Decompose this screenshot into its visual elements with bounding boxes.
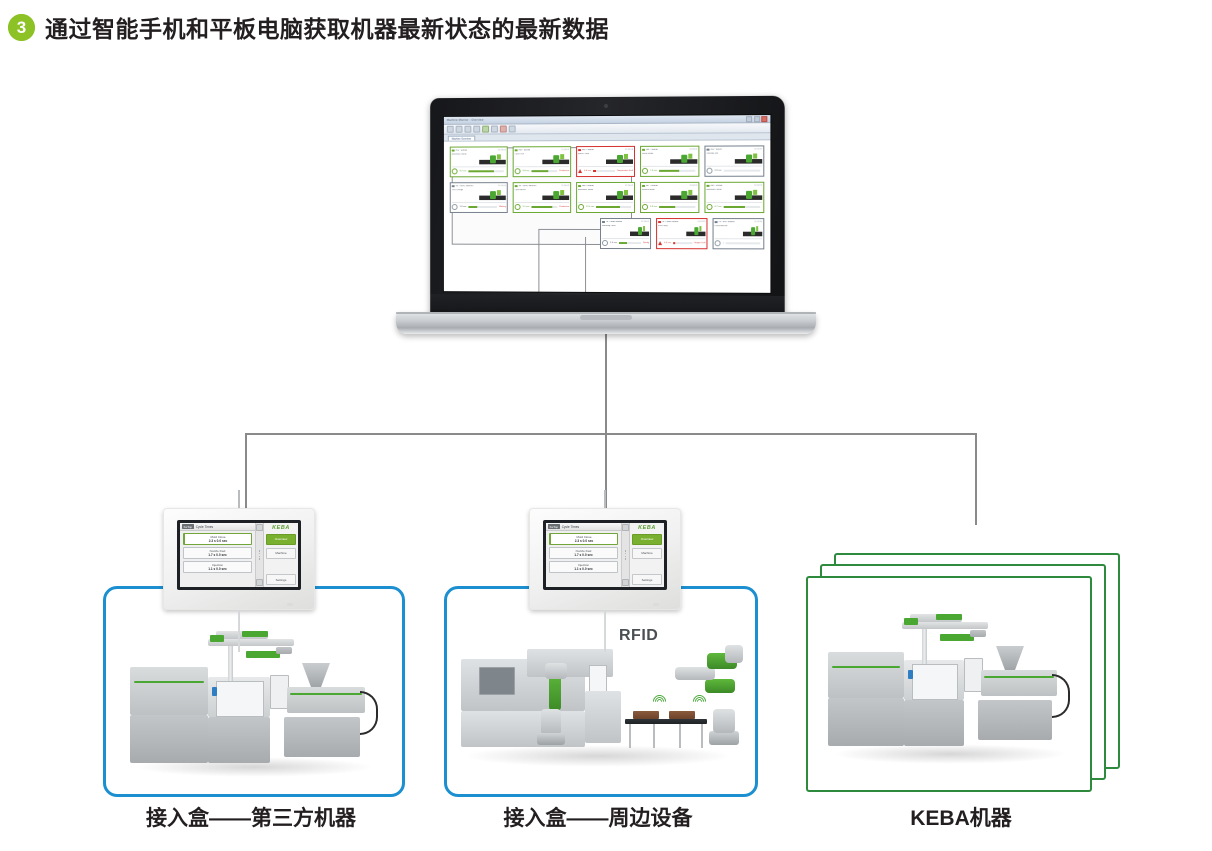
rfid-label: RFID bbox=[619, 627, 658, 645]
hmi-row-value: 2.3 s 0.0 sec bbox=[209, 539, 228, 543]
stack-sheet-front bbox=[806, 576, 1092, 792]
card-footer: 6.7 sec bbox=[706, 202, 762, 211]
group-box-peripheral: RFID bbox=[444, 586, 758, 797]
card-info: Standby Idle bbox=[706, 152, 733, 166]
machine-status-card[interactable]: IM4 - 320ton11:24:01Setup Mode7.4 sec bbox=[640, 146, 699, 177]
card-body: Disconnected bbox=[715, 224, 763, 238]
card-machine-thumbnail bbox=[542, 152, 569, 166]
refresh-icon[interactable] bbox=[482, 126, 489, 133]
hmi-button-settings-center[interactable]: Settings bbox=[632, 574, 662, 585]
chevron-down-icon[interactable] bbox=[256, 579, 263, 586]
hmi-row-1-center[interactable]: Nozzle Fwd 1.7 s 0.0 sec bbox=[549, 547, 618, 559]
hmi-sidebar-left: KEBA Overview Machine Settings bbox=[263, 523, 298, 587]
card-footer: 3.9 sec bbox=[642, 202, 697, 211]
hmi-support-arm-left bbox=[238, 610, 241, 652]
card-timestamp: 11:23:47 bbox=[754, 148, 762, 150]
card-machine-name: IM4 - 320ton bbox=[646, 149, 659, 151]
card-footer: 0.0 secGripper fault bbox=[658, 238, 705, 247]
dashboard-canvas: IM1 - 160ton11:24:02Automatic Mode8.2 se… bbox=[444, 140, 771, 293]
machine-status-card[interactable]: P1 - 1000 Robot11:24:02Handling Load2.4 … bbox=[600, 218, 651, 249]
hmi-screen-title-left: Cycle Times bbox=[196, 525, 213, 529]
card-info: Alarm - Halt bbox=[578, 152, 605, 166]
laptop-base-edge bbox=[396, 312, 816, 314]
card-progress-bar bbox=[659, 170, 695, 171]
card-info: Automatic Mode bbox=[452, 152, 478, 166]
card-mode-text: Disconnected bbox=[715, 225, 742, 227]
card-cycle-value: 0.0 sec bbox=[664, 242, 671, 244]
card-timestamp: 11:24:02 bbox=[625, 185, 633, 187]
hmi-titlebar-left: KeTop Cycle Times bbox=[180, 523, 255, 531]
card-machine-thumbnail bbox=[479, 188, 506, 202]
card-machine-name: IM6 - 650ton bbox=[582, 185, 595, 187]
hmi-scrollbar-left[interactable] bbox=[255, 523, 263, 587]
state-badge-icon bbox=[706, 168, 712, 174]
card-progress-bar bbox=[619, 242, 641, 243]
card-machine-thumbnail bbox=[686, 224, 705, 238]
chevron-up-icon[interactable] bbox=[622, 524, 629, 531]
hmi-row-0-center[interactable]: Mold Close 2.3 s 0.0 sec bbox=[549, 533, 618, 545]
state-badge-icon bbox=[452, 204, 458, 210]
card-alert-text: Production bbox=[559, 170, 569, 172]
state-badge-icon bbox=[642, 168, 648, 174]
status-dot-icon bbox=[706, 185, 709, 188]
card-mode-text: Tool Change bbox=[452, 189, 478, 191]
status-dot-icon bbox=[642, 185, 645, 188]
hmi-screen-title-center: Cycle Times bbox=[562, 525, 579, 529]
card-machine-thumbnail bbox=[743, 224, 762, 238]
card-machine-name: IM5 - 80ton bbox=[710, 149, 722, 151]
machine-card-grid: IM1 - 160ton11:24:02Automatic Mode8.2 se… bbox=[450, 145, 765, 249]
hmi-row-2-center[interactable]: Injection 1.1 s 0.0 sec bbox=[549, 561, 618, 573]
card-progress-bar bbox=[468, 171, 503, 172]
card-footer: -- bbox=[715, 238, 763, 247]
card-body: Error Stop bbox=[658, 224, 705, 238]
laptop-lid: Machine Monitor - Overview bbox=[430, 96, 784, 320]
card-progress-bar bbox=[593, 170, 615, 171]
page-title: 3 通过智能手机和平板电脑获取机器最新状态的最新数据 bbox=[8, 10, 609, 44]
card-machine-thumbnail bbox=[735, 151, 762, 165]
card-mode-text: Error Stop bbox=[658, 225, 685, 227]
card-timestamp: 11:23:55 bbox=[697, 221, 705, 223]
card-timestamp: 11:24:02 bbox=[641, 221, 649, 223]
card-timestamp: 11:23:58 bbox=[625, 149, 633, 151]
card-info: Cycle Run bbox=[515, 152, 542, 166]
card-info: Setup Mode bbox=[642, 152, 669, 166]
card-footer: 7.4 sec bbox=[642, 166, 697, 175]
hmi-knob-left[interactable] bbox=[287, 603, 293, 606]
hmi-bezel-left: KeTop Cycle Times Mold Close 2.3 s 0.0 s… bbox=[177, 520, 301, 590]
tab-machine-overview[interactable]: Machine Overview bbox=[448, 136, 475, 141]
close-icon[interactable] bbox=[761, 116, 767, 122]
hmi-main-left: KeTop Cycle Times Mold Close 2.3 s 0.0 s… bbox=[180, 523, 255, 587]
card-timestamp: 11:24:01 bbox=[689, 149, 697, 151]
card-mode-text: Cycle Active bbox=[515, 189, 542, 191]
card-timestamp: 11:24:02 bbox=[689, 185, 697, 187]
hmi-row-2-left[interactable]: Injection 1.1 s 0.0 sec bbox=[183, 561, 252, 573]
card-timestamp: 11:24:02 bbox=[561, 149, 569, 151]
card-machine-name: IM1 - 160ton bbox=[455, 150, 468, 152]
card-cycle-value: 8.2 sec bbox=[460, 170, 467, 172]
card-progress-bar bbox=[724, 206, 760, 207]
card-mode-text: Cycle Run bbox=[515, 153, 542, 155]
warning-triangle-icon bbox=[578, 169, 582, 173]
card-footer: 1.6 secWaiting bbox=[452, 202, 506, 211]
card-body: Standby Idle bbox=[706, 151, 762, 165]
state-badge-icon bbox=[515, 168, 521, 174]
card-cycle-value: 0.0 sec bbox=[584, 170, 591, 172]
card-cycle-value: 0.0 sec bbox=[715, 170, 722, 172]
card-body: Tool Change bbox=[452, 188, 506, 202]
card-cycle-value: -- bbox=[723, 242, 724, 244]
hmi-shell-left: KeTop Cycle Times Mold Close 2.3 s 0.0 s… bbox=[163, 508, 315, 610]
card-machine-thumbnail bbox=[630, 224, 649, 238]
state-badge-icon bbox=[515, 204, 521, 210]
state-badge-icon bbox=[715, 240, 721, 246]
card-info: Automatic Mode bbox=[706, 188, 733, 202]
card-timestamp: 11:24:02 bbox=[498, 149, 506, 151]
status-dot-icon bbox=[452, 149, 454, 151]
scroll-dots-icon bbox=[259, 550, 260, 559]
card-mode-text: Automatic Mode bbox=[452, 153, 478, 155]
card-body: Automatic Mode bbox=[578, 188, 633, 202]
card-footer: 0.0 secTemperature fault bbox=[578, 166, 633, 175]
card-timestamp: 11:23:40 bbox=[754, 221, 762, 223]
card-mode-text: Automatic Mode bbox=[578, 189, 605, 191]
card-footer: 2.4 secReady bbox=[602, 238, 649, 247]
card-progress-bar bbox=[532, 206, 558, 207]
card-machine-name: IM2 - 220ton bbox=[518, 149, 531, 151]
state-badge-icon bbox=[642, 204, 648, 210]
machine-status-card[interactable]: R1 - CNC 500mm11:24:00Tool Change1.6 sec… bbox=[450, 182, 508, 213]
card-alert-text: Gripper fault bbox=[694, 242, 706, 244]
hmi-row-value: 1.1 s 0.0 sec bbox=[574, 567, 593, 571]
card-mode-text: Handling Load bbox=[602, 225, 629, 227]
card-progress-bar bbox=[468, 206, 497, 207]
hmi-row-value: 1.7 s 0.0 sec bbox=[574, 553, 593, 557]
machine-status-card[interactable]: IM1 - 160ton11:24:02Automatic Mode8.2 se… bbox=[450, 146, 508, 177]
hmi-support-arm-center bbox=[604, 610, 607, 652]
card-footer: 9.8 secProduction bbox=[515, 166, 569, 175]
status-dot-icon bbox=[452, 185, 454, 187]
card-timestamp: 11:23:59 bbox=[754, 185, 762, 187]
card-body: Automatic Mode bbox=[706, 188, 762, 202]
card-footer: 5.1 secProduction bbox=[515, 202, 569, 211]
card-footer: 12.0 sec bbox=[578, 202, 633, 211]
machine-status-card[interactable]: IM2 - 220ton11:24:02Cycle Run9.8 secProd… bbox=[513, 146, 571, 177]
card-progress-bar bbox=[724, 170, 760, 171]
card-progress-bar bbox=[532, 170, 558, 171]
rfid-signal-icon-2 bbox=[693, 695, 704, 706]
machine-status-card[interactable]: IM5 - 80ton11:23:47Standby Idle0.0 sec bbox=[704, 145, 764, 176]
card-machine-name: P3 - IPC 300ton bbox=[718, 221, 735, 223]
status-dot-icon bbox=[658, 221, 661, 224]
card-machine-name: IM8 - 140ton bbox=[710, 185, 723, 187]
machine-card-row: R1 - CNC 500mm11:24:00Tool Change1.6 sec… bbox=[450, 182, 765, 213]
hmi-row-value: 2.3 s 0.0 sec bbox=[575, 539, 594, 543]
status-dot-icon bbox=[578, 149, 580, 152]
machine-status-card[interactable]: R2 - CNC 400mm11:24:02Cycle Active5.1 se… bbox=[513, 182, 571, 213]
connector-laptop-trunk bbox=[605, 330, 607, 434]
group-box-third-party bbox=[103, 586, 405, 797]
card-machine-thumbnail bbox=[606, 152, 633, 166]
hmi-row-value: 1.1 s 0.0 sec bbox=[208, 567, 227, 571]
rfid-signal-icon-1 bbox=[653, 695, 664, 706]
diagram-canvas: 3 通过智能手机和平板电脑获取机器最新状态的最新数据 Machine Monit… bbox=[0, 0, 1212, 851]
card-mode-text: Setup Mode bbox=[642, 153, 669, 155]
card-machine-thumbnail bbox=[606, 188, 633, 202]
card-cycle-value: 2.4 sec bbox=[610, 242, 617, 244]
card-progress-bar bbox=[726, 243, 760, 244]
card-info: Cycle Active bbox=[515, 188, 542, 202]
status-dot-icon bbox=[706, 148, 709, 151]
card-cycle-value: 1.6 sec bbox=[460, 206, 467, 208]
card-alert-text: Production bbox=[559, 206, 569, 208]
filter-icon[interactable] bbox=[491, 126, 498, 133]
state-badge-icon bbox=[602, 240, 608, 246]
monitor-window: Machine Monitor - Overview bbox=[444, 115, 771, 293]
chevron-up-icon[interactable] bbox=[256, 524, 263, 531]
hmi-screen-center: KeTop Cycle Times Mold Close 2.3 s 0.0 s… bbox=[546, 523, 664, 587]
hmi-button-overview-center[interactable]: Overview bbox=[632, 534, 662, 545]
card-cycle-value: 12.0 sec bbox=[586, 206, 594, 208]
machine-status-card[interactable]: IM7 - 200ton11:24:02Manual Mode3.9 sec bbox=[640, 182, 699, 213]
save-icon[interactable] bbox=[464, 126, 471, 133]
card-mode-text: Alarm - Halt bbox=[578, 153, 605, 155]
machine-card-row: P1 - 1000 Robot11:24:02Handling Load2.4 … bbox=[600, 218, 764, 249]
machine-card-row: IM1 - 160ton11:24:02Automatic Mode8.2 se… bbox=[450, 145, 765, 177]
card-cycle-value: 3.9 sec bbox=[650, 206, 657, 208]
new-icon[interactable] bbox=[447, 126, 454, 133]
card-alert-text: Ready bbox=[643, 242, 649, 244]
card-info: Automatic Mode bbox=[578, 188, 605, 202]
status-dot-icon bbox=[515, 149, 517, 151]
hmi-row-0-left[interactable]: Mold Close 2.3 s 0.0 sec bbox=[183, 533, 252, 545]
scroll-dots-icon bbox=[625, 550, 626, 559]
machine-status-card[interactable]: P3 - IPC 300ton11:23:40Disconnected-- bbox=[713, 218, 765, 249]
state-badge-icon bbox=[706, 204, 712, 210]
hmi-scrollbar-center[interactable] bbox=[621, 523, 629, 587]
connector-branch-right bbox=[975, 433, 977, 525]
hmi-row-value: 1.7 s 0.0 sec bbox=[208, 553, 227, 557]
maximize-icon[interactable] bbox=[754, 116, 760, 122]
card-cycle-value: 7.4 sec bbox=[650, 170, 657, 172]
card-info: Disconnected bbox=[715, 224, 742, 238]
card-footer: 8.2 sec bbox=[452, 166, 506, 175]
caption-right: KEBA机器 bbox=[806, 802, 1116, 832]
card-info: Handling Load bbox=[602, 224, 629, 238]
card-machine-thumbnail bbox=[670, 152, 697, 166]
caption-center: 接入盒——周边设备 bbox=[444, 802, 752, 832]
card-progress-bar bbox=[659, 206, 695, 207]
keba-logo: KEBA bbox=[630, 523, 664, 532]
hmi-tag-center: KeTop bbox=[548, 524, 560, 529]
window-title: Machine Monitor - Overview bbox=[447, 119, 484, 122]
card-machine-name: P1 - 1000 Robot bbox=[606, 221, 623, 223]
machine-status-card[interactable]: IM3 - 120ton11:23:58Alarm - Halt0.0 secT… bbox=[576, 146, 635, 177]
card-footer: 0.0 sec bbox=[706, 166, 762, 175]
card-machine-name: IM7 - 200ton bbox=[646, 185, 659, 187]
card-body: Automatic Mode bbox=[452, 152, 506, 166]
print-icon[interactable] bbox=[473, 126, 480, 133]
card-body: Alarm - Halt bbox=[578, 152, 633, 166]
card-info: Manual Mode bbox=[642, 188, 669, 202]
card-info: Tool Change bbox=[452, 188, 478, 202]
laptop-trackpad-notch bbox=[580, 315, 632, 320]
status-dot-icon bbox=[578, 185, 580, 187]
status-dot-icon bbox=[715, 221, 718, 224]
card-body: Setup Mode bbox=[642, 152, 697, 166]
card-cycle-value: 5.1 sec bbox=[523, 206, 530, 208]
card-body: Cycle Run bbox=[515, 152, 569, 166]
hmi-row-1-left[interactable]: Nozzle Fwd 1.7 s 0.0 sec bbox=[183, 547, 252, 559]
card-machine-thumbnail bbox=[542, 188, 569, 202]
hmi-mount-stem-left bbox=[238, 490, 240, 508]
hmi-titlebar-center: KeTop Cycle Times bbox=[546, 523, 621, 531]
laptop-base bbox=[396, 312, 816, 334]
card-machine-name: P2 - 1200 Robot bbox=[662, 221, 679, 223]
card-progress-bar bbox=[596, 206, 631, 207]
caption-left: 接入盒——第三方机器 bbox=[103, 802, 399, 832]
status-dot-icon bbox=[642, 149, 645, 152]
hmi-tag-left: KeTop bbox=[182, 524, 194, 529]
card-machine-name: IM3 - 120ton bbox=[582, 149, 595, 151]
card-machine-name: R1 - CNC 500mm bbox=[455, 185, 473, 187]
alarm-icon[interactable] bbox=[500, 126, 507, 133]
machine-injection-molding-right bbox=[822, 608, 1078, 768]
hmi-shell-center: KeTop Cycle Times Mold Close 2.3 s 0.0 s… bbox=[529, 508, 681, 610]
state-badge-icon bbox=[578, 204, 584, 210]
hmi-button-machine-left[interactable]: Machine bbox=[266, 548, 296, 559]
card-timestamp: 11:24:00 bbox=[498, 185, 506, 187]
machine-status-card[interactable]: P2 - 1200 Robot11:23:55Error Stop0.0 sec… bbox=[656, 218, 707, 249]
card-progress-bar bbox=[673, 242, 692, 243]
warning-triangle-icon bbox=[658, 241, 662, 245]
machine-status-card[interactable]: IM8 - 140ton11:23:59Automatic Mode6.7 se… bbox=[704, 182, 764, 213]
card-cycle-value: 9.8 sec bbox=[523, 170, 530, 172]
state-badge-icon bbox=[452, 168, 458, 174]
machine-status-card[interactable]: IM6 - 650ton11:24:02Automatic Mode12.0 s… bbox=[576, 182, 635, 213]
hmi-panel-left[interactable]: KeTop Cycle Times Mold Close 2.3 s 0.0 s… bbox=[163, 508, 315, 610]
card-alert-text: Waiting bbox=[499, 206, 506, 208]
page-title-text: 通过智能手机和平板电脑获取机器最新状态的最新数据 bbox=[45, 10, 609, 44]
chevron-down-icon[interactable] bbox=[622, 579, 629, 586]
hmi-bezel-center: KeTop Cycle Times Mold Close 2.3 s 0.0 s… bbox=[543, 520, 667, 590]
card-timestamp: 11:24:02 bbox=[561, 185, 569, 187]
card-mode-text: Standby Idle bbox=[706, 153, 733, 155]
open-icon[interactable] bbox=[456, 126, 463, 133]
scene-peripheral-equipment bbox=[457, 627, 745, 777]
hmi-button-machine-center[interactable]: Machine bbox=[632, 548, 662, 559]
keba-logo: KEBA bbox=[264, 523, 298, 532]
machine-injection-molding-left bbox=[124, 629, 386, 779]
card-body: Cycle Active bbox=[515, 188, 569, 202]
hmi-value-list-center: Mold Close 2.3 s 0.0 sec Nozzle Fwd 1.7 … bbox=[546, 531, 621, 587]
laptop: Machine Monitor - Overview bbox=[396, 97, 816, 334]
hmi-knob-center[interactable] bbox=[653, 603, 659, 606]
status-dot-icon bbox=[602, 221, 604, 224]
card-machine-thumbnail bbox=[670, 188, 697, 202]
card-mode-text: Automatic Mode bbox=[706, 189, 733, 191]
hmi-screen-left: KeTop Cycle Times Mold Close 2.3 s 0.0 s… bbox=[180, 523, 298, 587]
webcam-icon bbox=[604, 104, 608, 108]
card-machine-thumbnail bbox=[479, 152, 506, 166]
minimize-icon[interactable] bbox=[746, 116, 752, 122]
status-dot-icon bbox=[515, 185, 517, 187]
hmi-value-list-left: Mold Close 2.3 s 0.0 sec Nozzle Fwd 1.7 … bbox=[180, 531, 255, 587]
card-alert-text: Temperature fault bbox=[617, 170, 633, 172]
step-number-badge: 3 bbox=[8, 14, 35, 41]
hmi-button-overview-left[interactable]: Overview bbox=[266, 534, 296, 545]
laptop-screen: Machine Monitor - Overview bbox=[443, 114, 772, 294]
window-controls[interactable] bbox=[746, 116, 767, 122]
settings-icon[interactable] bbox=[509, 125, 516, 132]
hmi-sidebar-center: KEBA Overview Machine Settings bbox=[629, 523, 664, 587]
card-machine-thumbnail bbox=[735, 188, 762, 202]
hmi-main-center: KeTop Cycle Times Mold Close 2.3 s 0.0 s… bbox=[546, 523, 621, 587]
hmi-mount-stem-center bbox=[604, 490, 606, 508]
card-body: Manual Mode bbox=[642, 188, 697, 202]
card-machine-name: R2 - CNC 400mm bbox=[518, 185, 536, 187]
hmi-panel-center[interactable]: KeTop Cycle Times Mold Close 2.3 s 0.0 s… bbox=[529, 508, 681, 610]
card-body: Handling Load bbox=[602, 224, 649, 238]
group-stack-keba-machines bbox=[806, 553, 1116, 793]
card-mode-text: Manual Mode bbox=[642, 189, 669, 191]
connector-horizontal-bus bbox=[245, 433, 976, 435]
card-info: Error Stop bbox=[658, 224, 685, 238]
card-cycle-value: 6.7 sec bbox=[715, 206, 722, 208]
hmi-button-settings-left[interactable]: Settings bbox=[266, 574, 296, 585]
